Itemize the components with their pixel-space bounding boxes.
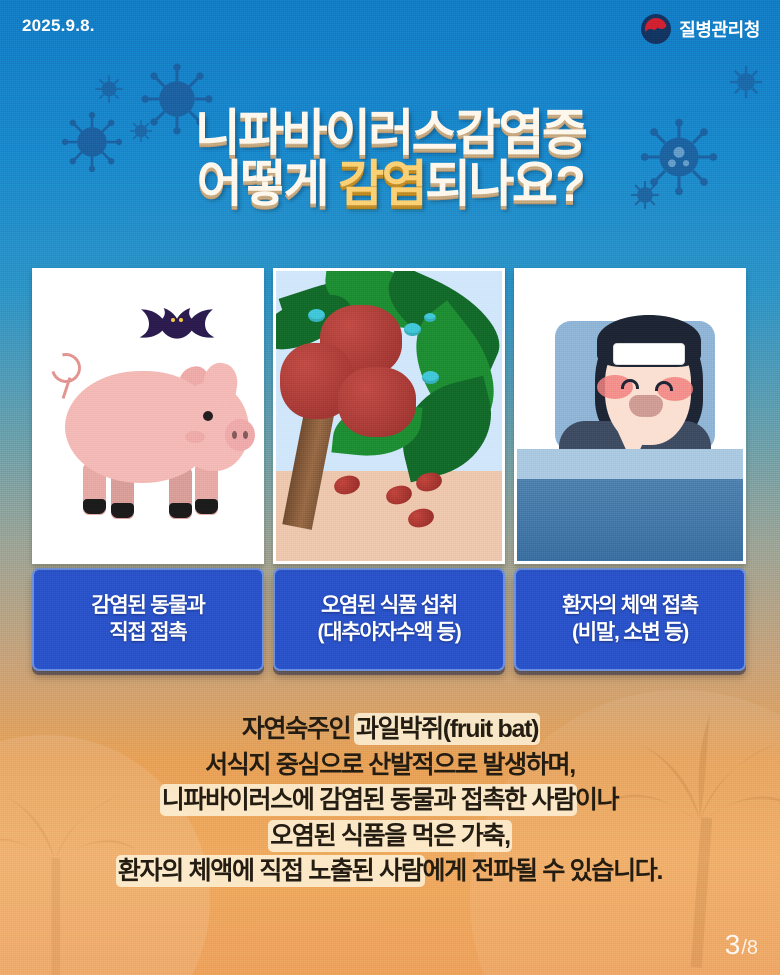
title-line-2-prefix: 어떻게 (197, 156, 339, 212)
desc-1-plain: 자연숙주인 (242, 715, 356, 743)
desc-3-plain: 이나 (575, 786, 618, 814)
panel-patient-body-fluid: 환자의 체액 접촉 (비말, 소변 등) (514, 268, 746, 671)
pig-cheek (185, 431, 205, 443)
page-title: 니파바이러스감염증 어떻게 감염되나요? (0, 108, 780, 210)
page-indicator: 3 /8 (725, 929, 758, 961)
virus-particle-icon (92, 72, 126, 106)
panel-caption-box: 오염된 식품 섭취 (대추야자수액 등) (273, 568, 505, 671)
page-total: /8 (741, 937, 758, 960)
panel-caption-box: 감염된 동물과 직접 접촉 (32, 568, 264, 671)
pig-hoof (195, 499, 218, 514)
description-line-1: 자연숙주인 과일박쥐(fruit bat) (0, 712, 780, 748)
description-line-3: 니파바이러스에 감염된 동물과 접촉한 사람이나 (0, 783, 780, 819)
desc-3-bold: 니파바이러스에 감염된 동물과 접촉한 사람 (162, 786, 575, 814)
pig-hoof (83, 499, 106, 514)
desc-1-bold: 과일박쥐(fruit bat) (356, 715, 538, 743)
date-fruit-cluster (338, 367, 416, 437)
cooling-patch-icon (613, 343, 685, 365)
agency-branding: 질병관리청 (641, 14, 760, 44)
coconut-icon (308, 309, 325, 322)
panel-contaminated-food: 오염된 식품 섭취 (대추야자수액 등) (273, 268, 505, 671)
coconut-icon (404, 323, 421, 336)
agency-name: 질병관리청 (679, 16, 760, 42)
desc-2-plain: 서식지 중심으로 산발적으로 발생하며, (205, 751, 575, 779)
bat-icon (137, 305, 217, 351)
taegeuk-logo-icon (641, 14, 671, 44)
coconut-icon (424, 313, 436, 322)
infographic-poster: 2025.9.8. 질병관리청 (0, 0, 780, 975)
pig-hoof (111, 503, 134, 518)
title-line-1: 니파바이러스감염증 (0, 108, 780, 159)
description-text-block: 자연숙주인 과일박쥐(fruit bat) 서식지 중심으로 산발적으로 발생하… (0, 712, 780, 890)
pig-hoof (169, 503, 192, 518)
desc-5-bold: 환자의 체액에 직접 노출된 사람 (118, 857, 423, 885)
desc-5-plain: 에게 전파될 수 있습니다. (423, 857, 663, 885)
publish-date: 2025.9.8. (22, 16, 95, 36)
patient-mouth (629, 395, 663, 417)
description-line-4: 오염된 식품을 먹은 가축, (0, 819, 780, 855)
pig-snout (225, 419, 255, 451)
description-line-5: 환자의 체액에 직접 노출된 사람에게 전파될 수 있습니다. (0, 854, 780, 890)
page-current: 3 (725, 929, 741, 961)
title-line-2-suffix: 되나요? (425, 156, 583, 212)
pig-eye (203, 411, 213, 421)
title-line-2: 어떻게 감염되나요? (0, 159, 780, 210)
bed-blanket (517, 479, 743, 561)
panel-caption-box: 환자의 체액 접촉 (비말, 소변 등) (514, 568, 746, 671)
title-highlight: 감염 (338, 156, 425, 212)
panel-caption-text: 환자의 체액 접촉 (비말, 소변 등) (562, 593, 698, 647)
transmission-routes-panels: 감염된 동물과 직접 접촉 (32, 268, 748, 671)
coconut-icon (422, 371, 439, 384)
date-palm-tree-illustration (273, 268, 505, 564)
sick-patient-in-bed-illustration (514, 268, 746, 564)
panel-caption-text: 오염된 식품 섭취 (대추야자수액 등) (317, 593, 460, 647)
panel-caption-text: 감염된 동물과 직접 접촉 (91, 593, 204, 647)
infected-pig-and-bat-illustration (32, 268, 264, 564)
description-line-2: 서식지 중심으로 산발적으로 발생하며, (0, 748, 780, 784)
panel-infected-animal-contact: 감염된 동물과 직접 접촉 (32, 268, 264, 671)
desc-4-bold: 오염된 식품을 먹은 가축, (270, 822, 510, 850)
virus-particle-icon (726, 62, 766, 102)
